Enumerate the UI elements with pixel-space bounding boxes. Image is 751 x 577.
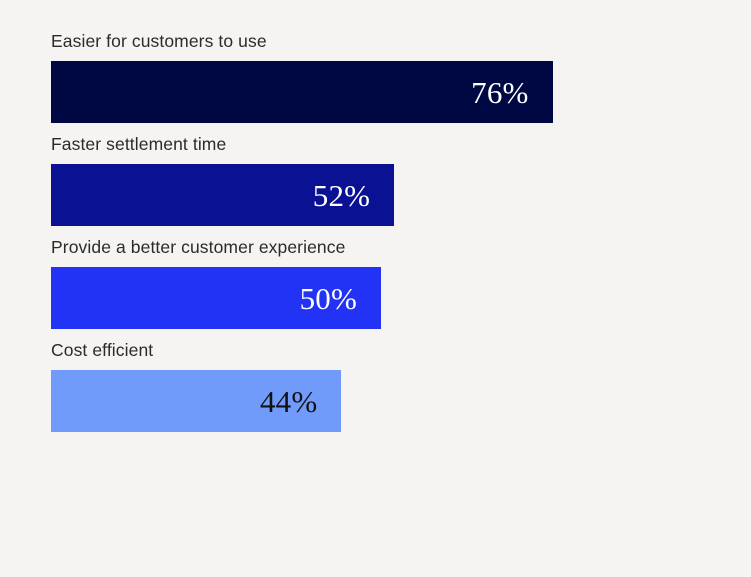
- bar-value-label: 44%: [260, 386, 317, 417]
- bar-fill[interactable]: 50%: [51, 267, 381, 329]
- bar-category-label: Faster settlement time: [51, 134, 711, 155]
- bar-track: 76%: [51, 61, 711, 123]
- bar-fill[interactable]: 44%: [51, 370, 341, 432]
- bar-category-label: Provide a better customer experience: [51, 237, 711, 258]
- bar-value-label: 50%: [300, 283, 357, 314]
- bar-fill[interactable]: 76%: [51, 61, 553, 123]
- bar-value-label: 52%: [313, 180, 370, 211]
- bar-category-label: Cost efficient: [51, 340, 711, 361]
- bar-track: 52%: [51, 164, 711, 226]
- bar-group: Easier for customers to use 76%: [51, 31, 711, 123]
- bar-group: Cost efficient 44%: [51, 340, 711, 432]
- bar-track: 44%: [51, 370, 711, 432]
- bar-group: Provide a better customer experience 50%: [51, 237, 711, 329]
- bar-track: 50%: [51, 267, 711, 329]
- bar-group: Faster settlement time 52%: [51, 134, 711, 226]
- bar-category-label: Easier for customers to use: [51, 31, 711, 52]
- bar-chart-plot-area: Easier for customers to use 76% Faster s…: [51, 31, 711, 432]
- bar-fill[interactable]: 52%: [51, 164, 394, 226]
- bar-value-label: 76%: [471, 77, 528, 108]
- bar-chart: Easier for customers to use 76% Faster s…: [0, 0, 751, 577]
